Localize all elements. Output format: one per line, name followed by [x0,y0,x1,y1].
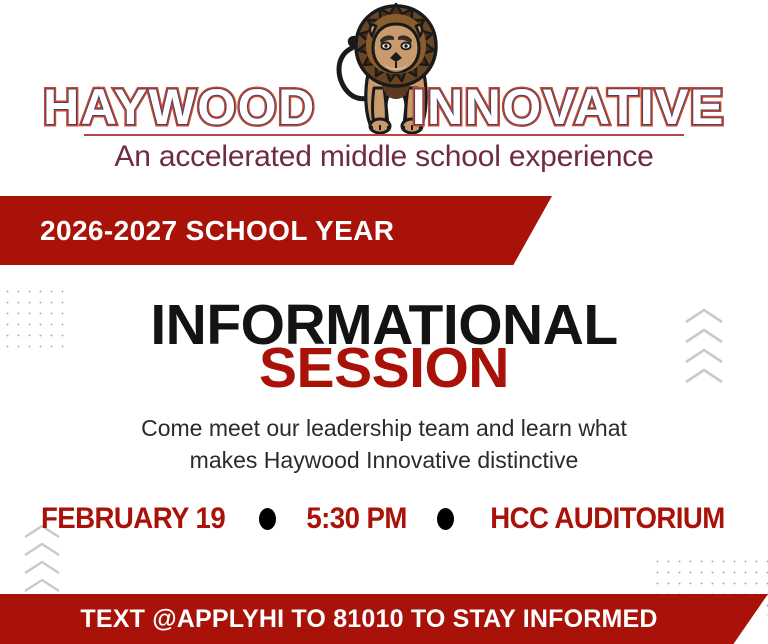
description-line-2: makes Haywood Innovative distinctive [0,444,768,476]
event-time: 5:30 PM [306,502,406,536]
school-year-banner: 2026-2027 SCHOOL YEAR [0,196,552,265]
wordmark-right-fill: INNOVATIVE [412,79,725,135]
headline-line-session: SESSION [0,341,768,395]
dot-separator-icon [259,508,276,530]
footer-cta-label: TEXT @APPLYHI TO 81010 TO STAY INFORMED [80,605,657,634]
footer-cta-bar: TEXT @APPLYHI TO 81010 TO STAY INFORMED [0,594,768,644]
headline-block: INFORMATIONAL SESSION [0,296,768,395]
wordmark-left-fill: HAYWOOD [43,79,316,135]
logo-wordmark: HAYWOODINNOVATIVE HAYWOODINNOVATIVE HAYW… [0,82,768,132]
logo-tagline: An accelerated middle school experience [0,140,768,174]
logo-block: HAYWOODINNOVATIVE HAYWOODINNOVATIVE HAYW… [0,0,768,190]
description-line-1: Come meet our leadership team and learn … [0,412,768,444]
description-block: Come meet our leadership team and learn … [0,412,768,476]
dot-separator-icon [437,508,454,530]
event-details-row: FEBRUARY 19 5:30 PM HCC AUDITORIUM [0,502,768,536]
event-date: FEBRUARY 19 [41,502,225,536]
poster-canvas: HAYWOODINNOVATIVE HAYWOODINNOVATIVE HAYW… [0,0,768,644]
school-year-label: 2026-2027 SCHOOL YEAR [40,215,394,247]
event-location: HCC AUDITORIUM [490,502,725,536]
wordmark-underline-rule [84,134,684,136]
